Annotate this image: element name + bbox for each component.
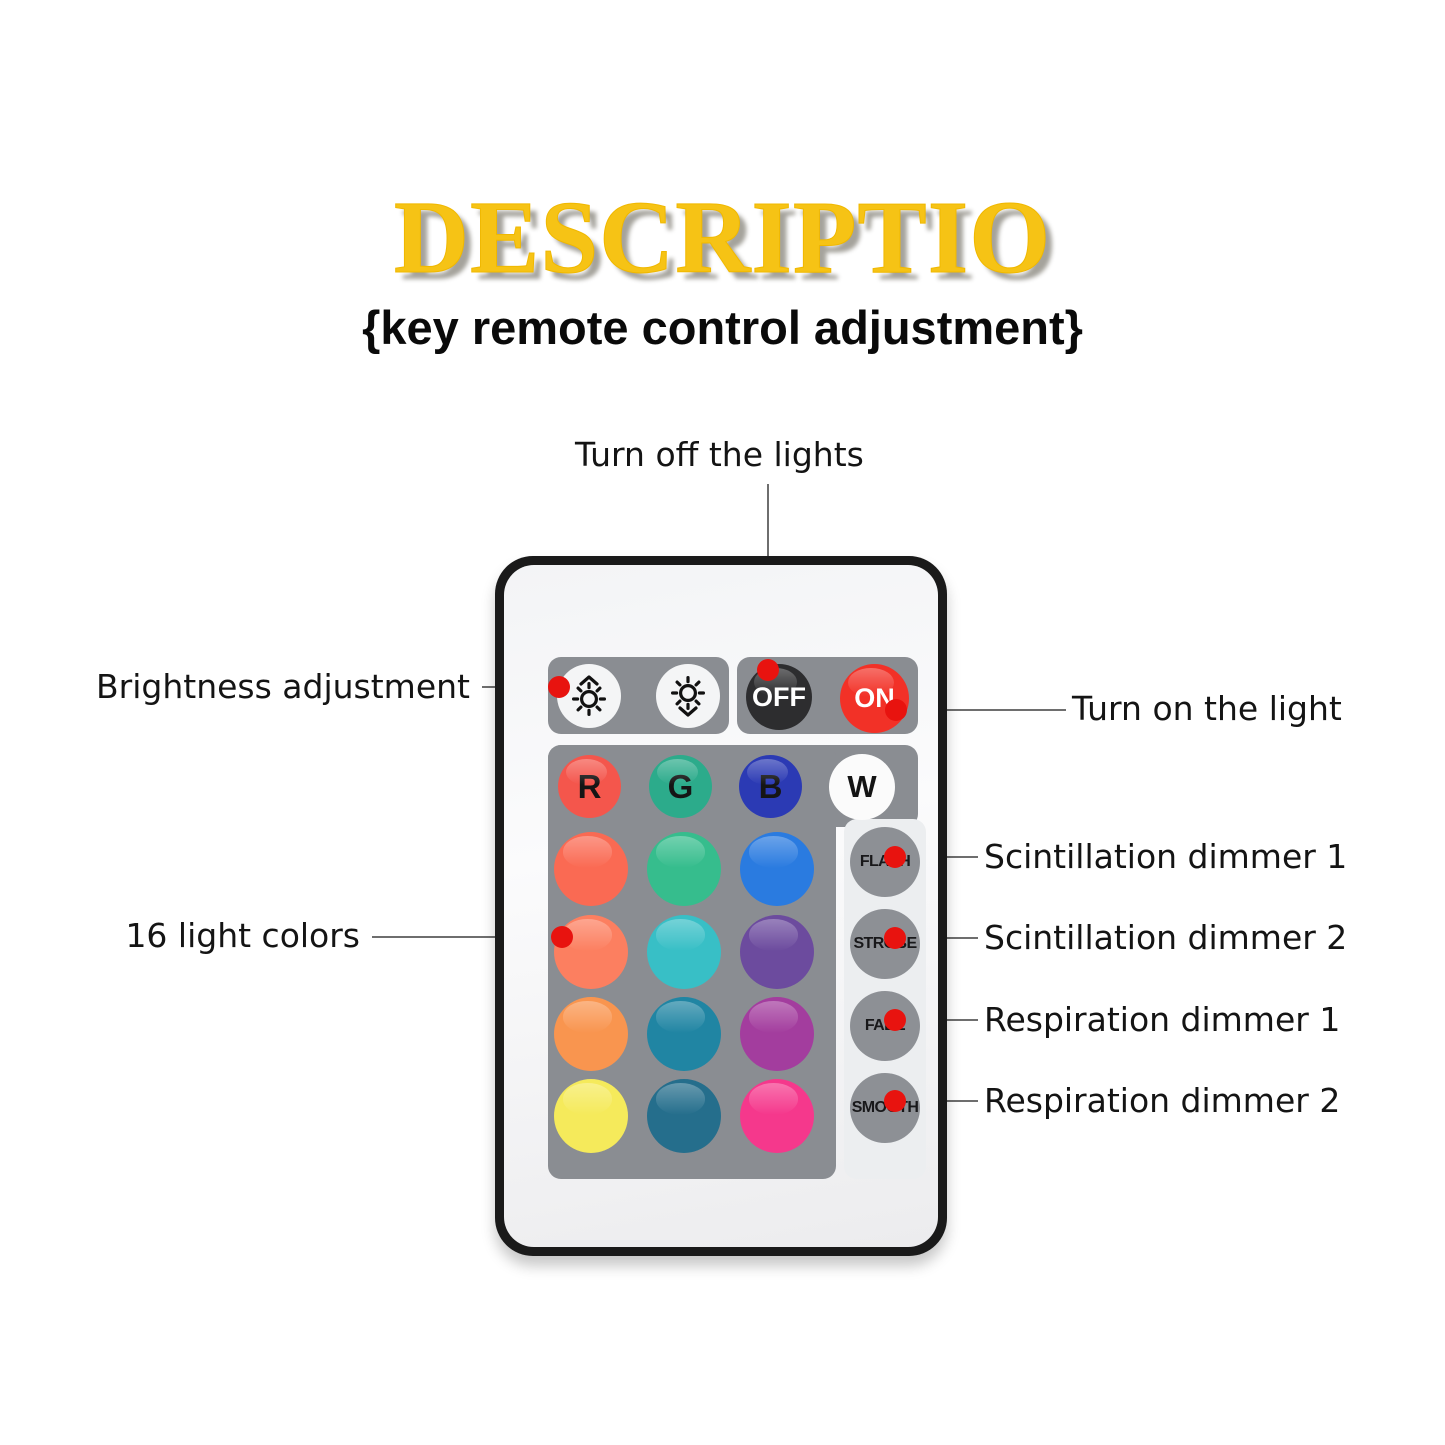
button-sheen	[656, 1083, 705, 1114]
color-button-b-label: B	[759, 768, 783, 806]
page-root: DESCRIPTIO {key remote control adjustmen…	[0, 0, 1445, 1445]
marker-dot-color-button	[551, 926, 573, 948]
color-button-r5c1[interactable]	[554, 1079, 628, 1153]
color-button-r2c3[interactable]	[740, 832, 814, 906]
remote-control-device: OFF ON R G B	[495, 556, 947, 1256]
color-button-r2c2[interactable]	[647, 832, 721, 906]
annotation-16-light-colors: 16 light colors	[24, 919, 360, 952]
button-sheen	[563, 1083, 612, 1114]
annotation-scintillation-dimmer-2: Scintillation dimmer 2	[984, 921, 1347, 954]
marker-dot-fade-button	[884, 1009, 906, 1031]
color-button-r2c1[interactable]	[554, 832, 628, 906]
button-sheen	[563, 836, 612, 867]
color-button-r4c2[interactable]	[647, 997, 721, 1071]
annotation-respiration-dimmer-1: Respiration dimmer 1	[984, 1003, 1340, 1036]
color-button-r3c3[interactable]	[740, 915, 814, 989]
power-off-label: OFF	[752, 682, 806, 713]
page-subtitle: {key remote control adjustment}	[0, 300, 1445, 356]
color-button-r3c2[interactable]	[647, 915, 721, 989]
color-button-r5c2[interactable]	[647, 1079, 721, 1153]
button-sheen	[656, 1001, 705, 1032]
marker-dot-off-button	[757, 659, 779, 681]
color-button-g[interactable]: G	[649, 755, 712, 818]
mode-button-smooth[interactable]: SMOOTH	[850, 1073, 920, 1143]
button-sheen	[749, 919, 798, 950]
color-button-g-label: G	[668, 768, 694, 806]
color-button-r[interactable]: R	[558, 755, 621, 818]
button-sheen	[749, 1001, 798, 1032]
brightness-up-button[interactable]	[557, 664, 621, 728]
sun-down-icon	[666, 674, 710, 718]
color-button-w[interactable]: W	[829, 754, 895, 820]
button-sheen	[749, 1083, 798, 1114]
annotation-turn-on-the-light: Turn on the light	[1072, 692, 1342, 725]
annotation-scintillation-dimmer-1: Scintillation dimmer 1	[984, 840, 1347, 873]
color-button-w-label: W	[847, 769, 876, 805]
annotation-respiration-dimmer-2: Respiration dimmer 2	[984, 1084, 1340, 1117]
color-button-r4c3[interactable]	[740, 997, 814, 1071]
marker-dot-on-button	[885, 699, 907, 721]
remote-face: OFF ON R G B	[504, 565, 938, 1247]
button-sheen	[656, 836, 705, 867]
brightness-panel	[548, 657, 729, 734]
marker-dot-flash-button	[884, 846, 906, 868]
page-title: DESCRIPTIO	[0, 186, 1445, 290]
button-sheen	[749, 836, 798, 867]
color-button-b[interactable]: B	[739, 755, 802, 818]
marker-dot-brightness-button	[548, 676, 570, 698]
color-button-r5c3[interactable]	[740, 1079, 814, 1153]
button-sheen	[563, 1001, 612, 1032]
power-off-button[interactable]: OFF	[746, 664, 812, 730]
sun-up-icon	[567, 674, 611, 718]
button-sheen	[656, 919, 705, 950]
marker-dot-strobe-button	[884, 927, 906, 949]
marker-dot-smooth-button	[884, 1090, 906, 1112]
annotation-turn-off-the-lights: Turn off the lights	[575, 438, 864, 471]
annotation-brightness-adjustment: Brightness adjustment	[24, 670, 470, 703]
color-button-r4c1[interactable]	[554, 997, 628, 1071]
color-button-r-label: R	[578, 768, 602, 806]
brightness-down-button[interactable]	[656, 664, 720, 728]
